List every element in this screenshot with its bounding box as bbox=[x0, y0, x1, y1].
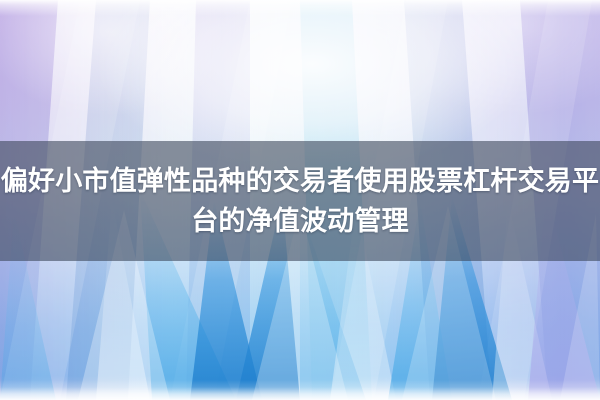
title-overlay-band: 偏好小市值弹性品种的交易者使用股票杠杆交易平 台的净值波动管理 bbox=[0, 141, 600, 261]
promo-banner: 偏好小市值弹性品种的交易者使用股票杠杆交易平 台的净值波动管理 bbox=[0, 0, 600, 400]
page-title-line-2: 台的净值波动管理 bbox=[191, 201, 409, 241]
page-title-line-1: 偏好小市值弹性品种的交易者使用股票杠杆交易平 bbox=[1, 161, 599, 201]
